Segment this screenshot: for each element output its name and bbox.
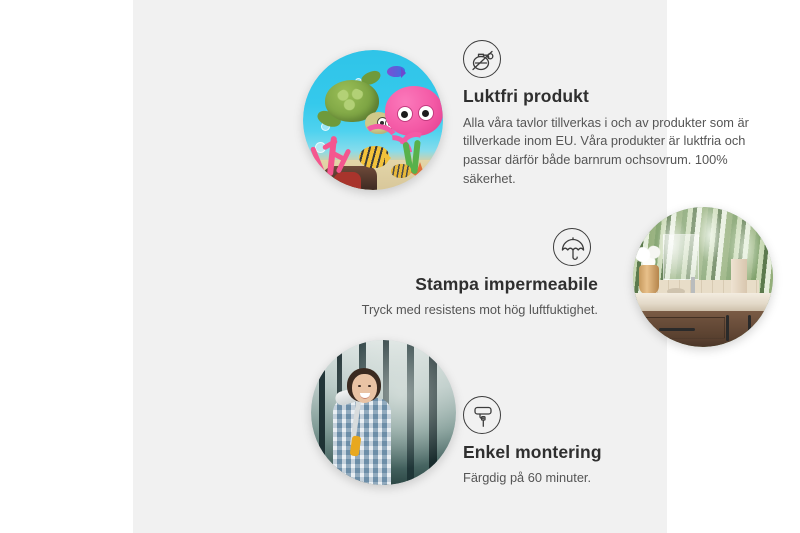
feature-mounting-text: Enkel montering Färgdig på 60 minuter. xyxy=(463,442,753,487)
cabinet-handle xyxy=(748,315,751,341)
blue-fish-icon xyxy=(387,66,405,77)
feature-waterproof-body: Tryck med resistens mot hög luftfuktighe… xyxy=(328,301,598,320)
person-face xyxy=(352,374,377,403)
striped-fish-icon xyxy=(359,146,389,168)
no-fragrance-icon xyxy=(463,40,501,78)
feature-mounting-title: Enkel montering xyxy=(463,442,753,464)
feature-easy-mounting: Enkel montering Färgdig på 60 minuter. xyxy=(463,396,753,487)
octopus-eye xyxy=(397,106,413,122)
umbrella-icon xyxy=(553,228,591,266)
octopus-eye xyxy=(418,105,434,121)
mirror xyxy=(663,234,699,280)
feature-mounting-body: Färgdig på 60 minuter. xyxy=(463,469,753,488)
pink-coral xyxy=(309,132,363,176)
feature-waterproof-title: Stampa impermeabile xyxy=(328,274,598,296)
copper-vase xyxy=(639,265,659,295)
person-plaid-shirt xyxy=(333,398,391,485)
feature-waterproof-text: Stampa impermeabile Tryck med resistens … xyxy=(328,274,598,319)
paint-roller-icon xyxy=(463,396,501,434)
bathroom-botanical-disc xyxy=(633,207,773,347)
promo-infographic-page: Luktfri produkt Alla våra tavlor tillver… xyxy=(0,0,800,533)
feature-waterproof: Stampa impermeabile Tryck med resistens … xyxy=(328,228,598,319)
octopus-head xyxy=(385,86,443,136)
stone-countertop xyxy=(633,293,773,311)
feature-odour-title: Luktfri produkt xyxy=(463,86,753,108)
cabinet-handle xyxy=(726,315,729,341)
toiletry-bottle xyxy=(731,259,747,293)
small-fish-icon xyxy=(391,164,411,178)
wooden-vanity xyxy=(633,311,773,347)
drawer-handle xyxy=(659,328,695,331)
content-panel: Luktfri produkt Alla våra tavlor tillver… xyxy=(133,0,667,533)
faucet xyxy=(691,277,695,293)
woman-paint-roller-forest-disc xyxy=(311,340,456,485)
feature-odour-free: Luktfri produkt Alla våra tavlor tillver… xyxy=(463,40,753,188)
underwater-cartoon-disc xyxy=(303,50,443,190)
feature-odour-body: Alla våra tavlor tillverkas i och av pro… xyxy=(463,114,753,188)
feature-odour-text: Luktfri produkt Alla våra tavlor tillver… xyxy=(463,86,753,188)
